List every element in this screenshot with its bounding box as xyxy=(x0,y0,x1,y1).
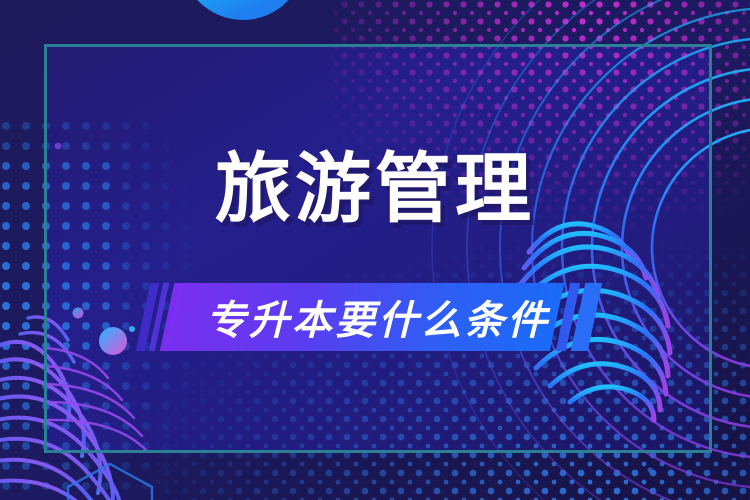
page-subtitle: 专升本要什么条件 xyxy=(0,283,750,351)
speck-2 xyxy=(647,467,652,472)
speck-1 xyxy=(55,143,62,150)
page-title: 旅游管理 xyxy=(215,152,535,228)
poster-canvas: 旅游管理 专升本要什么条件 xyxy=(0,0,750,500)
background-artwork xyxy=(0,0,750,500)
title-block: 旅游管理 xyxy=(0,152,750,228)
